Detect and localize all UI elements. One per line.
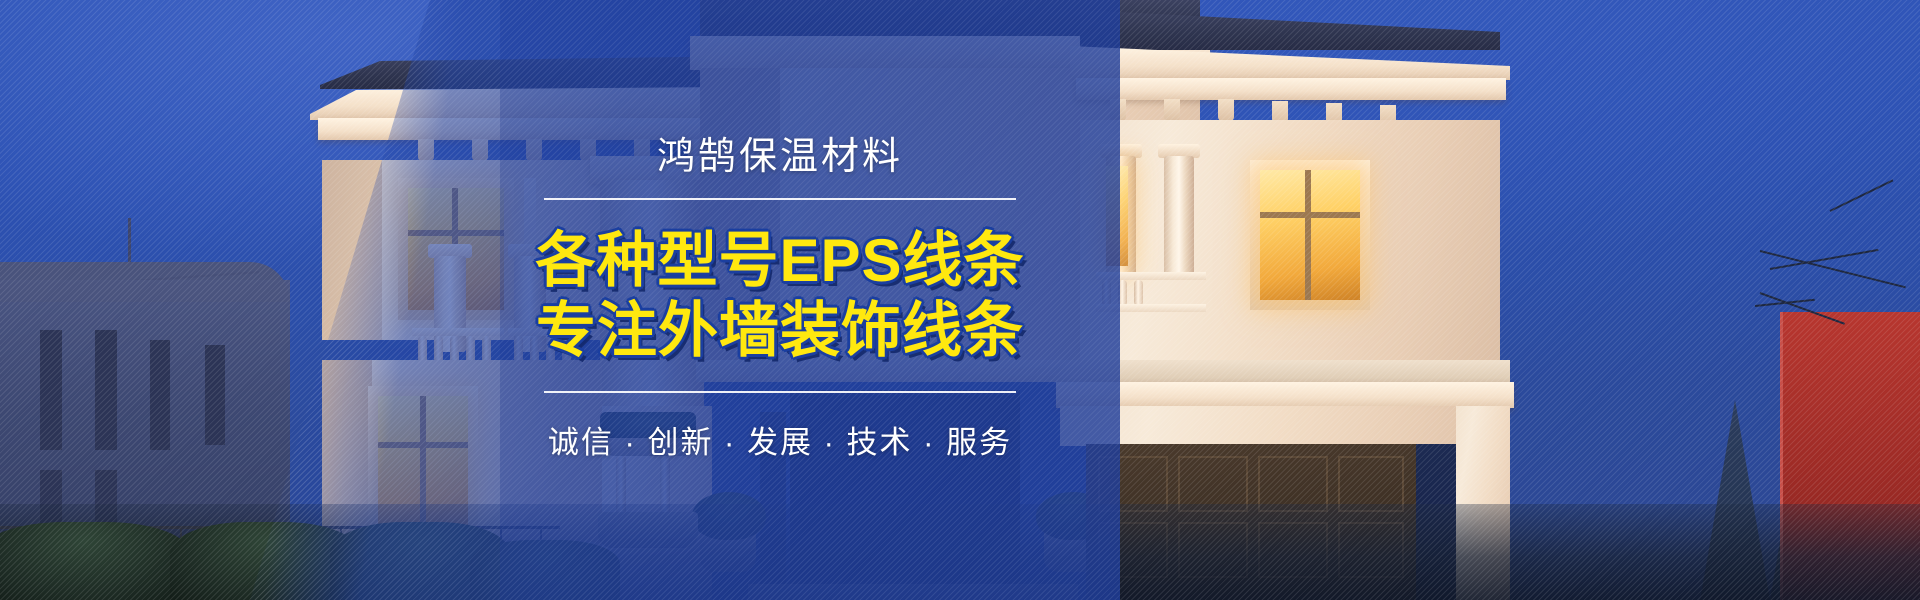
divider-top <box>544 198 1016 200</box>
headline-line-1: 各种型号EPS线条 <box>535 226 1024 296</box>
promo-banner: 鸿鹄保温材料 各种型号EPS线条 专注外墙装饰线条 诚信 · 创新 · 发展 ·… <box>0 0 1920 600</box>
tagline: 诚信 · 创新 · 发展 · 技术 · 服务 <box>548 417 1012 462</box>
divider-bottom <box>544 391 1016 393</box>
banner-content: 鸿鹄保温材料 各种型号EPS线条 专注外墙装饰线条 诚信 · 创新 · 发展 ·… <box>540 0 1020 600</box>
brand-name: 鸿鹄保温材料 <box>657 138 903 176</box>
headline-line-2: 专注外墙装饰线条 <box>536 296 1024 366</box>
